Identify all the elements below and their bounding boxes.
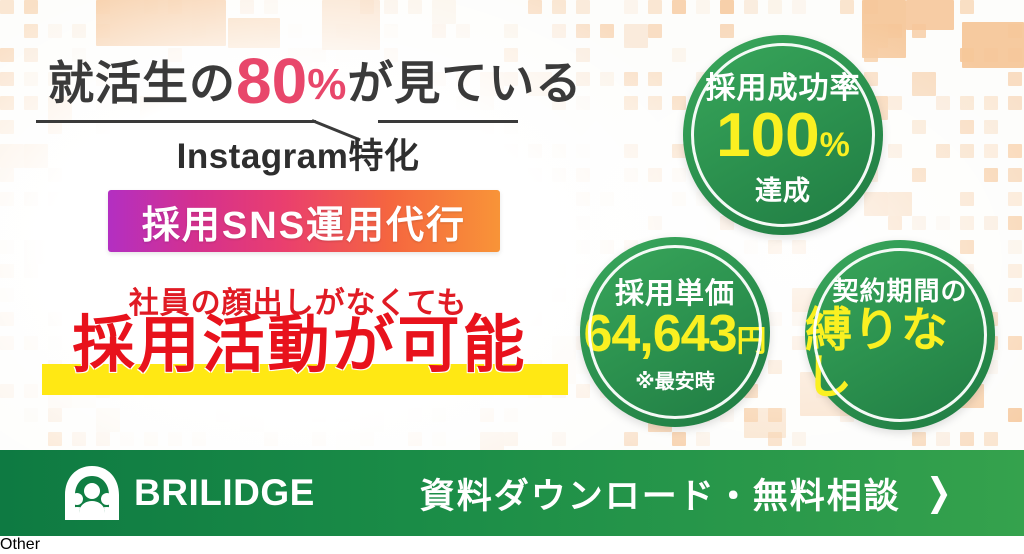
badge-value-number: 64,643 xyxy=(583,305,736,363)
background-square xyxy=(792,0,806,14)
background-square xyxy=(864,192,888,216)
headline-block: 就活生の80%が見ている Instagram特化 採用SNS運用代行 社員の顔出… xyxy=(0,0,600,450)
background-square xyxy=(1008,168,1022,182)
background-square xyxy=(960,240,974,254)
background-square xyxy=(624,72,638,86)
footer-cta-bar[interactable]: BRILIDGE 資料ダウンロード・無料相談 ❯ xyxy=(0,450,1024,536)
badge-value: 100% xyxy=(716,105,850,167)
background-square-large xyxy=(862,0,906,58)
background-square xyxy=(960,0,974,14)
badge-hiring-unit-price: 採用単価 64,643円 ※最安時 xyxy=(580,237,770,427)
bridge-people-icon xyxy=(62,464,122,522)
background-square xyxy=(936,144,950,158)
headline-line-1: 就活生の80%が見ている xyxy=(48,50,568,112)
background-square xyxy=(768,312,782,326)
background-square xyxy=(672,192,686,206)
background-square xyxy=(960,216,974,230)
background-square xyxy=(648,24,662,38)
sns-service-badge-label: 採用SNS運用代行 xyxy=(142,194,466,249)
background-square xyxy=(600,192,614,206)
background-square xyxy=(1008,336,1022,350)
background-square xyxy=(792,312,806,326)
background-square xyxy=(960,192,974,206)
background-square xyxy=(936,432,950,446)
background-square xyxy=(744,0,758,14)
headline-percent-number: 80 xyxy=(236,45,307,117)
brand-logo[interactable]: BRILIDGE xyxy=(62,464,315,522)
badge-subtitle: ※最安時 xyxy=(635,365,714,394)
badge-value-unit: 円 xyxy=(737,325,767,358)
background-square xyxy=(672,48,686,62)
background-square xyxy=(696,0,710,14)
chevron-right-icon: ❯ xyxy=(926,474,951,512)
background-square xyxy=(792,336,806,350)
background-square xyxy=(1008,216,1022,230)
background-square xyxy=(648,168,662,182)
background-square xyxy=(960,120,974,134)
background-square-large xyxy=(744,408,786,438)
background-square xyxy=(840,0,854,14)
background-square xyxy=(600,72,614,86)
background-square xyxy=(768,360,782,374)
badge-hiring-success-rate: 採用成功率 100% 達成 xyxy=(683,35,883,235)
background-square xyxy=(624,24,648,48)
background-square xyxy=(792,240,806,254)
background-square xyxy=(648,72,662,86)
background-square xyxy=(1008,240,1022,254)
background-square xyxy=(624,432,638,446)
background-square xyxy=(912,120,926,134)
background-square xyxy=(672,432,686,446)
background-square xyxy=(600,240,614,254)
headline-rule-right xyxy=(378,120,518,123)
background-square xyxy=(696,432,710,446)
background-square xyxy=(984,144,998,158)
background-square xyxy=(960,432,974,446)
background-square xyxy=(984,216,998,230)
background-square xyxy=(912,432,926,446)
background-square xyxy=(888,216,902,230)
cta-group[interactable]: 資料ダウンロード・無料相談 ❯ xyxy=(420,468,955,519)
badge-value: 64,643円 xyxy=(583,308,766,360)
background-square xyxy=(624,96,638,110)
background-square xyxy=(624,144,638,158)
background-square xyxy=(624,0,638,14)
background-square xyxy=(720,24,734,38)
background-square xyxy=(1008,96,1022,110)
background-square xyxy=(648,96,662,110)
headline-rule-left xyxy=(36,120,316,123)
background-square xyxy=(912,168,926,182)
headline-line-2: Instagram特化 xyxy=(48,128,548,179)
background-square xyxy=(1008,264,1022,278)
badge-value-number: 縛りなし xyxy=(805,303,949,403)
background-square xyxy=(960,96,974,110)
cta-label: 資料ダウンロード・無料相談 xyxy=(420,468,901,519)
background-square xyxy=(768,240,782,254)
background-square xyxy=(888,144,902,158)
background-square-large xyxy=(962,22,1024,68)
promo-banner: 就活生の80%が見ている Instagram特化 採用SNS運用代行 社員の顔出… xyxy=(0,0,1024,536)
background-square xyxy=(672,168,686,182)
background-square xyxy=(936,96,950,110)
background-square xyxy=(768,0,782,14)
sns-service-badge: 採用SNS運用代行 xyxy=(108,190,500,252)
headline-line-4: 採用活動が可能 xyxy=(40,310,560,382)
background-square-large xyxy=(906,0,954,30)
brand-logo-text: BRILIDGE xyxy=(134,472,315,514)
background-square xyxy=(744,240,758,254)
background-square xyxy=(792,432,806,446)
background-square xyxy=(1008,192,1022,206)
background-square xyxy=(600,24,614,38)
badge-subtitle: 達成 xyxy=(755,169,811,208)
background-square xyxy=(720,0,734,14)
background-square xyxy=(984,120,998,134)
background-square xyxy=(984,168,998,182)
background-square xyxy=(624,168,638,182)
background-square xyxy=(888,192,912,216)
background-square xyxy=(672,96,686,110)
background-square xyxy=(984,432,998,446)
background-square xyxy=(912,216,926,230)
background-square xyxy=(984,96,998,110)
background-square xyxy=(1008,408,1022,422)
background-square xyxy=(936,216,950,230)
background-square xyxy=(1008,72,1022,86)
background-square xyxy=(648,216,662,230)
badge-value-unit: % xyxy=(820,126,850,164)
background-square xyxy=(672,0,686,14)
background-square xyxy=(960,144,974,158)
background-square xyxy=(1008,144,1022,158)
headline-prefix: 就活生の xyxy=(48,57,236,109)
badge-value-number: 100 xyxy=(716,101,819,170)
headline-percent-symbol: % xyxy=(307,60,347,109)
background-square xyxy=(648,0,662,14)
badge-no-contract-lock: 契約期間の 縛りなし xyxy=(805,240,995,430)
background-square xyxy=(1008,288,1022,302)
headline-suffix: が見ている xyxy=(347,57,582,109)
background-square xyxy=(888,96,902,110)
background-square xyxy=(912,72,936,96)
badge-value: 縛りなし xyxy=(805,306,995,400)
